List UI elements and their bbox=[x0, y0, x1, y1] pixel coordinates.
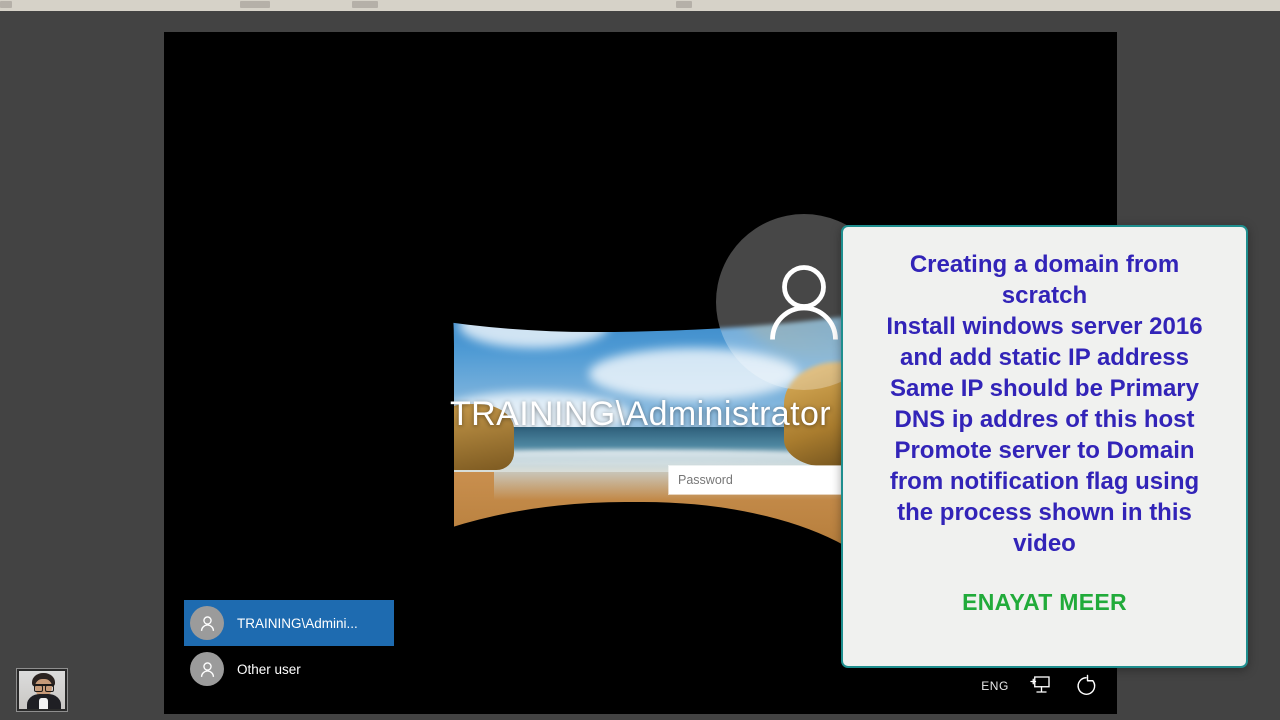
info-overlay-panel: Creating a domain from scratch Install w… bbox=[841, 225, 1248, 668]
overlay-line: scratch bbox=[857, 280, 1232, 311]
ease-of-access-network-icon[interactable] bbox=[1025, 672, 1055, 700]
webcam-image bbox=[19, 671, 65, 709]
power-icon[interactable] bbox=[1071, 672, 1101, 700]
page-root: TRAINING\Administrator TRAINING\Admini..… bbox=[0, 0, 1280, 720]
system-tray: ENG bbox=[981, 672, 1101, 700]
user-list-item-label: Other user bbox=[237, 662, 301, 677]
avatar bbox=[190, 652, 224, 686]
person-icon bbox=[198, 660, 217, 679]
presenter-webcam[interactable] bbox=[16, 668, 68, 712]
user-list: TRAINING\Admini... Other user bbox=[184, 600, 394, 692]
overlay-author: ENAYAT MEER bbox=[857, 589, 1232, 616]
overlay-line: the process shown in this bbox=[857, 497, 1232, 528]
browser-chrome-strip bbox=[0, 0, 1280, 11]
language-indicator[interactable]: ENG bbox=[981, 679, 1009, 693]
overlay-line: DNS ip addres of this host bbox=[857, 404, 1232, 435]
chrome-ghost-2 bbox=[352, 1, 378, 8]
avatar bbox=[190, 606, 224, 640]
overlay-line: Creating a domain from bbox=[857, 249, 1232, 280]
overlay-line: and add static IP address bbox=[857, 342, 1232, 373]
glasses-icon bbox=[34, 684, 54, 689]
chrome-ghost-4 bbox=[0, 1, 12, 8]
user-list-item-label: TRAINING\Admini... bbox=[237, 616, 358, 631]
person-icon bbox=[198, 614, 217, 633]
overlay-line: Install windows server 2016 bbox=[857, 311, 1232, 342]
chrome-ghost-1 bbox=[240, 1, 270, 8]
person-icon bbox=[756, 254, 852, 350]
webcam-shirt bbox=[39, 698, 48, 709]
overlay-line: from notification flag using bbox=[857, 466, 1232, 497]
overlay-line: video bbox=[857, 528, 1232, 559]
user-list-item-other-user[interactable]: Other user bbox=[184, 646, 394, 692]
overlay-line: Same IP should be Primary bbox=[857, 373, 1232, 404]
chrome-ghost-3 bbox=[676, 1, 692, 8]
overlay-line: Promote server to Domain bbox=[857, 435, 1232, 466]
user-list-item-administrator[interactable]: TRAINING\Admini... bbox=[184, 600, 394, 646]
